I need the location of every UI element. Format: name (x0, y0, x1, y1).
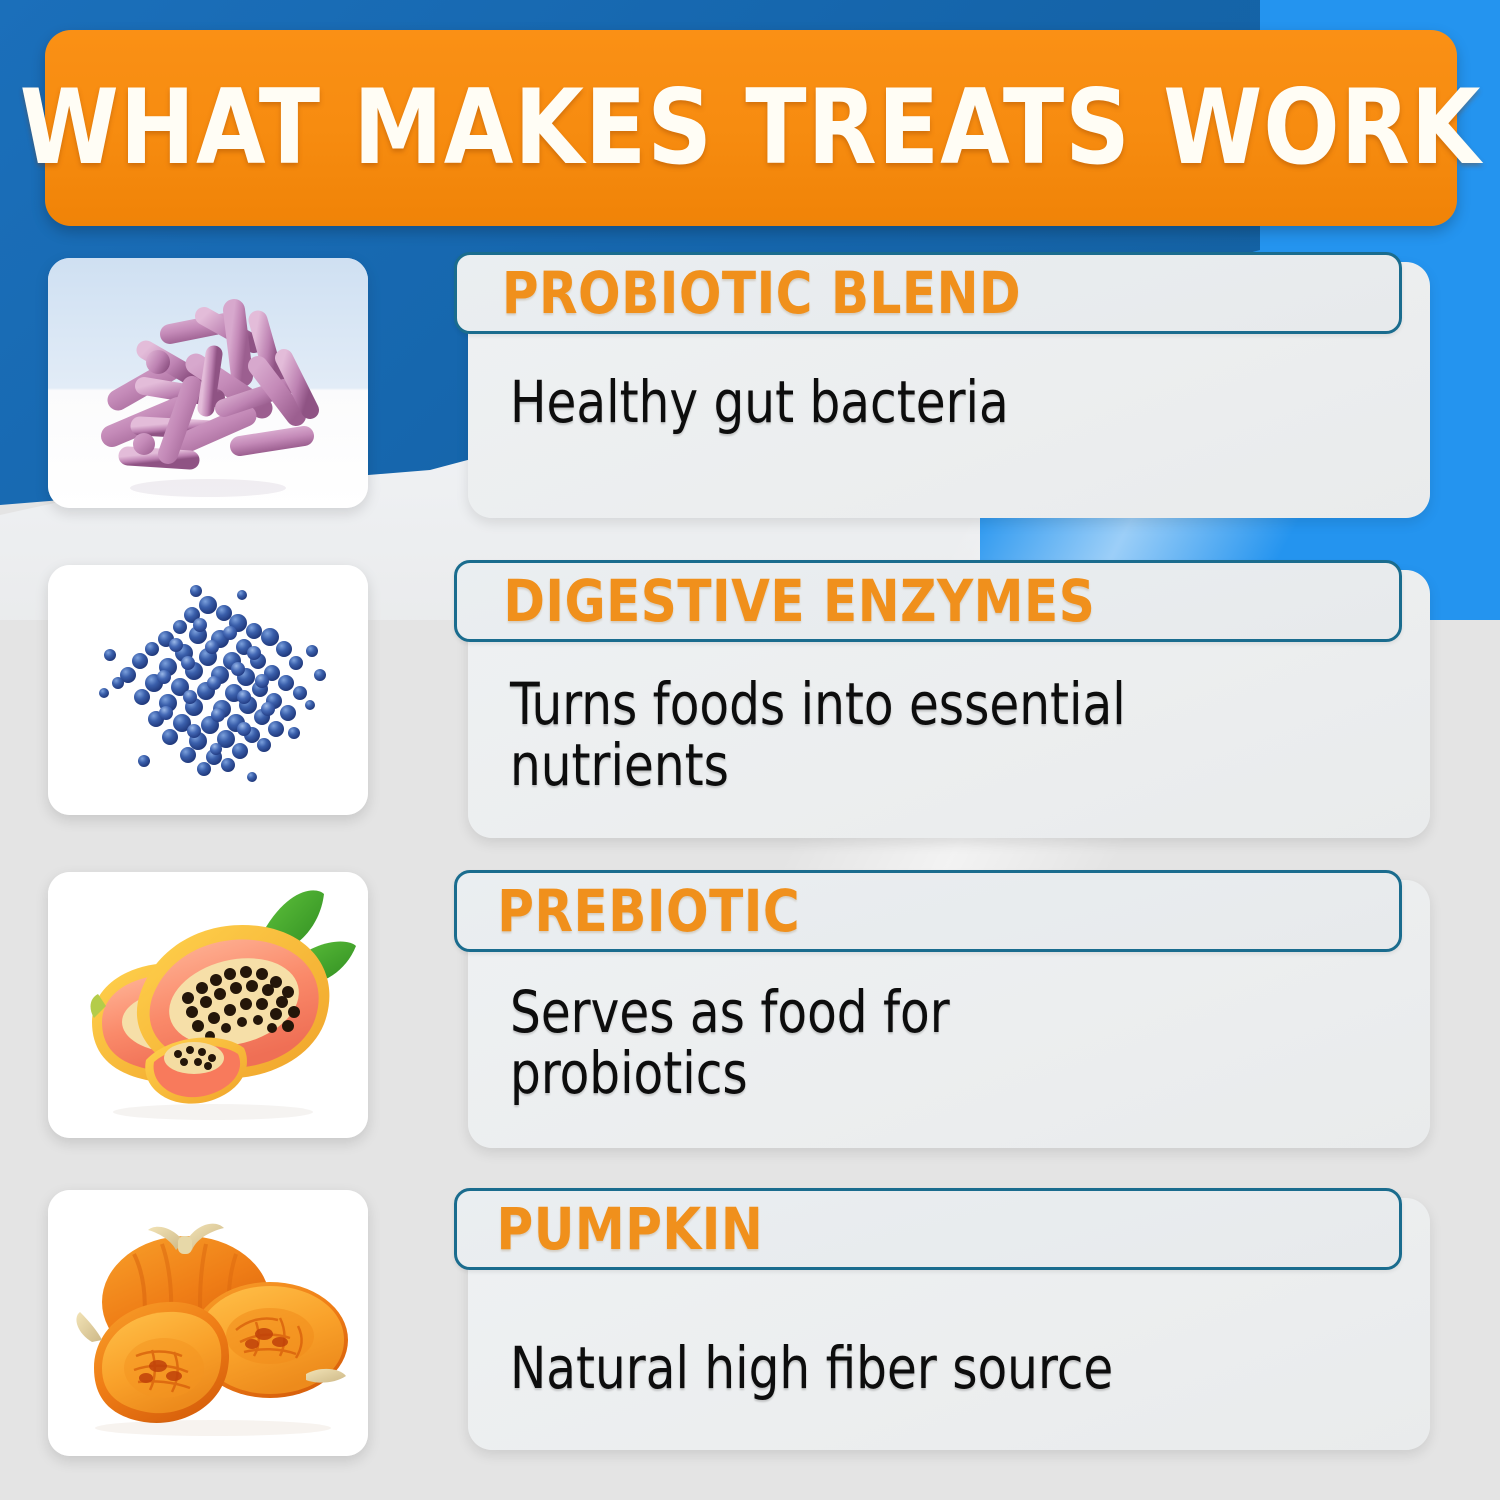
pumpkin-image (48, 1190, 368, 1456)
row-title: DIGESTIVE ENZYMES (503, 572, 1095, 630)
page-title: WHAT MAKES TREATS WORK (20, 77, 1482, 180)
pill-digestive-enzymes: DIGESTIVE ENZYMES (454, 560, 1402, 642)
probiotic-bacteria-artwork (48, 258, 368, 508)
pumpkin-artwork (48, 1190, 368, 1456)
row-description: Natural high fiber source (510, 1338, 1113, 1399)
header-banner: WHAT MAKES TREATS WORK (45, 30, 1457, 226)
pill-prebiotic: PREBIOTIC (454, 870, 1402, 952)
row-description: Healthy gut bacteria (510, 372, 1009, 433)
pill-probiotic-blend: PROBIOTIC BLEND (454, 252, 1402, 334)
digestive-enzymes-image (48, 565, 368, 815)
card-digestive-enzymes: DIGESTIVE ENZYMES Turns foods into essen… (468, 570, 1430, 838)
card-pumpkin: PUMPKIN Natural high fiber source (468, 1198, 1430, 1450)
row-title: PREBIOTIC (497, 882, 800, 940)
enzyme-granules-icon (48, 565, 368, 815)
pumpkin-icon (48, 1190, 368, 1456)
prebiotic-papaya-image (48, 872, 368, 1138)
infographic-root: WHAT MAKES TREATS WORK (0, 0, 1500, 1500)
digestive-enzymes-artwork (48, 565, 368, 815)
card-prebiotic: PREBIOTIC Serves as food for probiotics (468, 880, 1430, 1148)
prebiotic-papaya-artwork (48, 872, 368, 1138)
row-title: PUMPKIN (497, 1200, 764, 1258)
card-probiotic-blend: PROBIOTIC BLEND Healthy gut bacteria (468, 262, 1430, 518)
bacteria-icon (48, 258, 368, 508)
pill-pumpkin: PUMPKIN (454, 1188, 1402, 1270)
row-description: Turns foods into essential nutrients (510, 674, 1347, 797)
row-description: Serves as food for probiotics (510, 982, 1161, 1105)
papaya-icon (48, 872, 368, 1138)
probiotic-bacteria-image (48, 258, 368, 508)
row-title: PROBIOTIC BLEND (502, 264, 1021, 322)
